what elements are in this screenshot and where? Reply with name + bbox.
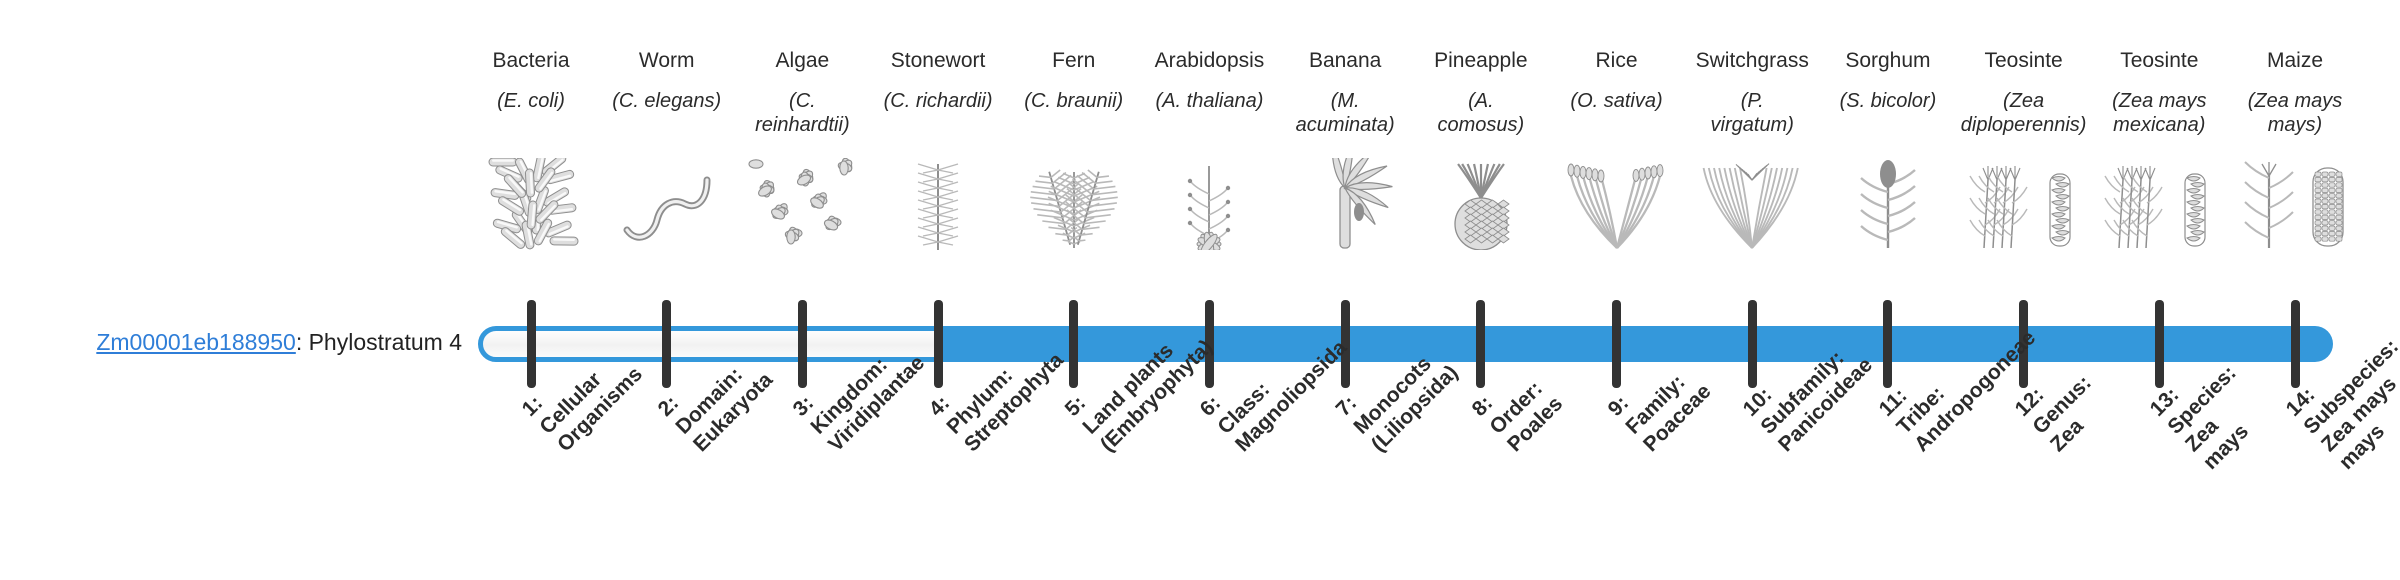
- species-latin-line-1: (C. braunii): [1006, 89, 1142, 113]
- species-latin-line-2: diploperennis): [1956, 113, 2092, 137]
- species-common-name: Rice: [1549, 48, 1685, 73]
- species-column-11: Sorghum(S. bicolor): [1820, 48, 1956, 113]
- species-latin-name: (C. richardii): [870, 89, 1006, 113]
- species-column-8: Pineapple(A.comosus): [1413, 48, 1549, 137]
- species-latin-line-1: (C. elegans): [599, 89, 735, 113]
- species-column-1: Bacteria(E. coli): [463, 48, 599, 113]
- species-column-5: Fern(C. braunii): [1006, 48, 1142, 113]
- species-column-13: Teosinte(Zea maysmexicana): [2091, 48, 2227, 137]
- gene-phylostratum-label: Zm00001eb188950: Phylostratum 4: [0, 329, 462, 355]
- species-latin-name: (S. bicolor): [1820, 89, 1956, 113]
- gene-label-separator: :: [296, 329, 309, 355]
- species-latin-name: (P.virgatum): [1684, 89, 1820, 137]
- species-latin-line-1: (Zea mays: [2091, 89, 2227, 113]
- bacteria-illustration: [467, 158, 595, 250]
- species-column-2: Worm(C. elegans): [599, 48, 735, 113]
- species-latin-line-1: (S. bicolor): [1820, 89, 1956, 113]
- species-common-name: Fern: [1006, 48, 1142, 73]
- rice-illustration: [1553, 158, 1681, 250]
- teosinte-illustration: [2095, 158, 2223, 250]
- species-latin-name: (M.acuminata): [1277, 89, 1413, 137]
- gene-id-link[interactable]: Zm00001eb188950: [96, 329, 296, 355]
- species-latin-line-1: (E. coli): [463, 89, 599, 113]
- arabidopsis-illustration: [1145, 158, 1273, 250]
- species-common-name: Sorghum: [1820, 48, 1956, 73]
- species-common-name: Pineapple: [1413, 48, 1549, 73]
- species-latin-line-1: (O. sativa): [1549, 89, 1685, 113]
- species-latin-line-1: (Zea: [1956, 89, 2092, 113]
- switchgrass-illustration: [1688, 158, 1816, 250]
- species-latin-line-1: (Zea mays: [2227, 89, 2363, 113]
- species-common-name: Banana: [1277, 48, 1413, 73]
- species-latin-line-2: mays): [2227, 113, 2363, 137]
- species-latin-line-2: acuminata): [1277, 113, 1413, 137]
- species-column-14: Maize(Zea maysmays): [2227, 48, 2363, 137]
- banana-illustration: [1281, 158, 1409, 250]
- species-latin-name: (C.reinhardtii): [734, 89, 870, 137]
- species-common-name: Maize: [2227, 48, 2363, 73]
- fern-illustration: [1010, 158, 1138, 250]
- stonewort-illustration: [874, 158, 1002, 250]
- species-common-name: Switchgrass: [1684, 48, 1820, 73]
- species-latin-line-1: (C. richardii): [870, 89, 1006, 113]
- species-latin-name: (E. coli): [463, 89, 599, 113]
- species-common-name: Algae: [734, 48, 870, 73]
- species-common-name: Bacteria: [463, 48, 599, 73]
- species-latin-name: (A.comosus): [1413, 89, 1549, 137]
- species-latin-name: (C. elegans): [599, 89, 735, 113]
- species-latin-line-1: (P.: [1684, 89, 1820, 113]
- stratum-tick-1[interactable]: [527, 300, 536, 388]
- species-common-name: Worm: [599, 48, 735, 73]
- teosinte-illustration: [1960, 158, 2088, 250]
- phylostratum-chart: Zm00001eb188950: Phylostratum 4 Bacteria…: [0, 0, 2400, 580]
- maize-illustration: [2231, 158, 2359, 250]
- species-latin-line-2: reinhardtii): [734, 113, 870, 137]
- species-latin-line-2: mexicana): [2091, 113, 2227, 137]
- species-latin-name: (Zeadiploperennis): [1956, 89, 2092, 137]
- species-latin-line-1: (M.: [1277, 89, 1413, 113]
- species-column-3: Algae(C.reinhardtii): [734, 48, 870, 137]
- species-latin-name: (Zea maysmexicana): [2091, 89, 2227, 137]
- species-latin-name: (A. thaliana): [1141, 89, 1277, 113]
- species-latin-line-1: (A.: [1413, 89, 1549, 113]
- species-column-12: Teosinte(Zeadiploperennis): [1956, 48, 2092, 137]
- species-common-name: Teosinte: [2091, 48, 2227, 73]
- species-latin-name: (Zea maysmays): [2227, 89, 2363, 137]
- species-column-7: Banana(M.acuminata): [1277, 48, 1413, 137]
- species-latin-line-1: (C.: [734, 89, 870, 113]
- species-latin-line-1: (A. thaliana): [1141, 89, 1277, 113]
- species-column-9: Rice(O. sativa): [1549, 48, 1685, 113]
- sorghum-illustration: [1824, 158, 1952, 250]
- species-latin-line-2: comosus): [1413, 113, 1549, 137]
- species-column-6: Arabidopsis(A. thaliana): [1141, 48, 1277, 113]
- species-latin-name: (O. sativa): [1549, 89, 1685, 113]
- worm-illustration: [603, 158, 731, 250]
- species-column-4: Stonewort(C. richardii): [870, 48, 1006, 113]
- pineapple-illustration: [1417, 158, 1545, 250]
- species-common-name: Teosinte: [1956, 48, 2092, 73]
- species-latin-name: (C. braunii): [1006, 89, 1142, 113]
- algae-illustration: [738, 158, 866, 250]
- species-column-10: Switchgrass(P.virgatum): [1684, 48, 1820, 137]
- phylostratum-value-label: Phylostratum 4: [309, 329, 462, 355]
- species-common-name: Arabidopsis: [1141, 48, 1277, 73]
- species-latin-line-2: virgatum): [1684, 113, 1820, 137]
- species-common-name: Stonewort: [870, 48, 1006, 73]
